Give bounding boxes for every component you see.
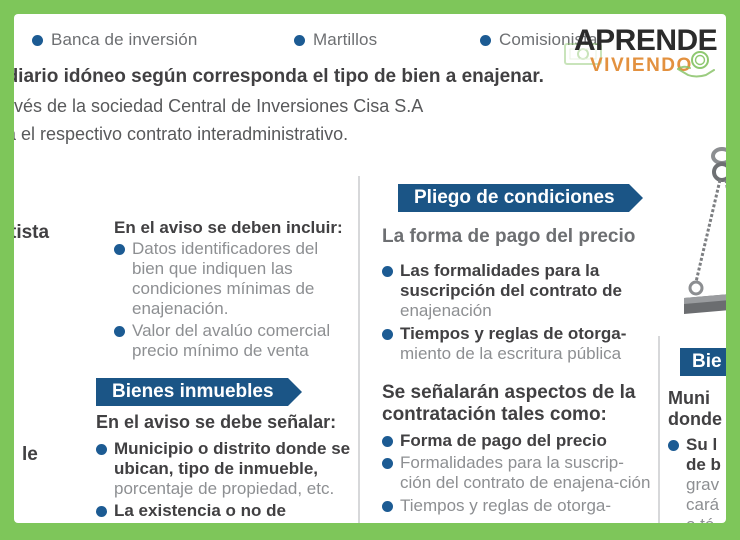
hand-coin-icon [676, 51, 716, 79]
list-item: Tiempos y reglas de otorga- [382, 496, 654, 516]
list-item: Valor del avalúo comercial precio mínimo… [114, 321, 354, 361]
list-item: Municipio o distrito donde se ubican, ti… [96, 439, 358, 499]
list-item: La existencia o no de gravámenes deudas … [96, 501, 358, 523]
top-bullet-label-0: Banca de inversión [51, 30, 197, 50]
middle-block1-bullet-2: Tiempos y reglas de otorga- [400, 324, 626, 343]
left-block1-bullet-0: Datos identificadores del bien que indiq… [132, 239, 318, 318]
banner-label: Bie [680, 348, 726, 376]
right-bullet-0: Su l [686, 435, 717, 454]
bullet-dot-icon [32, 35, 43, 46]
right-bullet-3-cont: cará [668, 495, 726, 515]
right-heading-line-1: donde [668, 409, 726, 430]
left-block1-list: Datos identificadores del bien que indiq… [114, 239, 354, 361]
left-block2-heading: En el aviso se debe señalar: [96, 412, 358, 433]
cropped-label-subastista: tista [14, 222, 49, 244]
right-list: Su l [668, 435, 726, 455]
right-bullet-2-cont: grav [668, 475, 726, 495]
list-item: Su l [668, 435, 726, 455]
list-item: Las formalidades para la suscripción del… [382, 261, 654, 321]
list-item: Formalidades para la suscrip-ción del co… [382, 453, 654, 493]
middle-block2-list: Forma de pago del precio Formalidades pa… [382, 431, 654, 515]
intro-line-2: rá el respectivo contrato interadministr… [14, 124, 348, 145]
middle-block2-heading: Se señalarán aspectos de la contratación… [382, 382, 654, 425]
banner-label: Bienes inmuebles [96, 378, 288, 406]
list-item: Forma de pago del precio [382, 431, 654, 451]
top-bullet-label-1: Martillos [313, 30, 377, 50]
list-item: Datos identificadores del bien que indiq… [114, 239, 354, 319]
middle-block1-bullet-3: miento de la escritura pública [400, 344, 621, 363]
top-bullet-item-1: Martillos [294, 30, 377, 50]
right-heading-line-0: Muni [668, 388, 726, 409]
middle-block1-bullet-1: enajenación [400, 301, 492, 320]
left-block1-bullet-1: Valor del avalúo comercial precio mínimo… [132, 321, 330, 360]
middle-block1-list: Las formalidades para la suscripción del… [382, 261, 654, 363]
bullet-dot-icon [480, 35, 491, 46]
infographic-frame: Banca de inversión Martillos Comisionist… [0, 0, 740, 540]
left-block-aviso-senalar: En el aviso se debe señalar: Municipio o… [96, 412, 358, 523]
column-left: tista En el aviso se deben incluir: Dato… [14, 174, 358, 523]
middle-block-aspectos-contratacion: Se señalarán aspectos de la contratación… [382, 382, 654, 516]
right-bullet-4-cont: o té [668, 515, 726, 523]
column-right: Bie Muni donde Su l de b grav cará [660, 336, 726, 523]
intro-line-1: ravés de la sociedad Central de Inversio… [14, 96, 423, 117]
middle-block1-heading: La forma de pago del precio [382, 226, 654, 247]
bullet-dot-icon [294, 35, 305, 46]
banner-label: Pliego de condiciones [398, 184, 629, 212]
logo: APRENDE VIVIENDO [568, 18, 720, 84]
column-middle: Pliego de condiciones La forma de pago d… [360, 174, 658, 523]
infographic-page: Banca de inversión Martillos Comisionist… [14, 14, 726, 523]
middle-block2-bullet-2: Tiempos y reglas de otorga- [400, 496, 611, 515]
top-bullet-item-0: Banca de inversión [32, 30, 197, 50]
left-block2-bullet-2: La existencia o no de gravámenes deudas … [114, 501, 293, 523]
left-block1-heading: En el aviso se deben incluir: [114, 218, 354, 237]
intro-line-0: ediario idóneo según corresponda el tipo… [14, 66, 544, 88]
list-item: Tiempos y reglas de otorga- miento de la… [382, 324, 654, 364]
balance-scale-icon [680, 142, 726, 338]
banner-pliego-condiciones: Pliego de condiciones [398, 184, 629, 212]
banner-bienes-inmuebles: Bienes inmuebles [96, 378, 288, 406]
left-block2-bullet-0: Municipio o distrito donde se ubican, ti… [114, 439, 350, 478]
left-block2-bullet-1: porcentaje de propiedad, etc. [114, 479, 334, 498]
cropped-label-le: le [22, 444, 38, 466]
left-block-aviso-incluir: En el aviso se deben incluir: Datos iden… [114, 218, 354, 362]
middle-block2-bullet-0: Forma de pago del precio [400, 431, 607, 450]
middle-block1-bullet-0: Las formalidades para la suscripción del… [400, 261, 622, 300]
banner-bienes-right: Bie [680, 348, 726, 376]
middle-block2-bullet-1: Formalidades para la suscrip-ción del co… [400, 453, 650, 492]
left-block2-list: Municipio o distrito donde se ubican, ti… [96, 439, 358, 523]
right-block: Muni donde Su l de b grav cará o té [668, 388, 726, 523]
right-bullet-1-cont: de b [668, 455, 726, 475]
middle-block-forma-pago: La forma de pago del precio Las formalid… [382, 226, 654, 364]
